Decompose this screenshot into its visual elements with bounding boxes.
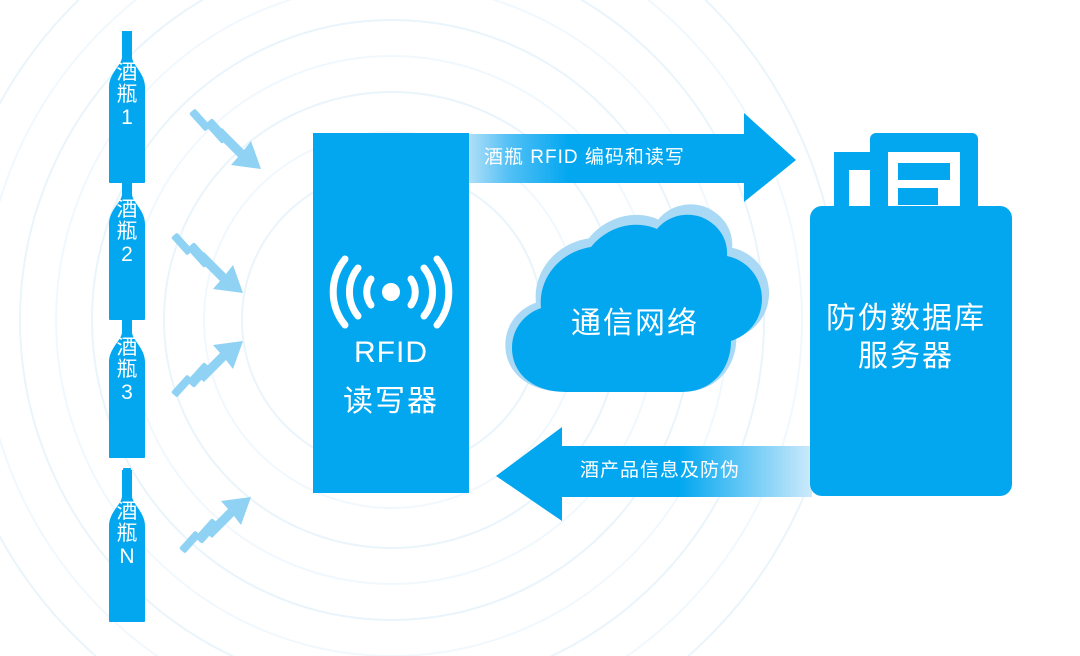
server-label-line1: 防伪数据库 — [800, 300, 1012, 338]
server-labels: 防伪数据库 服务器 — [800, 300, 1012, 376]
diagram-canvas: 酒瓶 1 酒瓶 2 酒瓶 3 酒瓶 N — [0, 0, 1080, 656]
server-label-line2: 服务器 — [800, 338, 1012, 376]
database-server-icon[interactable] — [834, 133, 978, 212]
